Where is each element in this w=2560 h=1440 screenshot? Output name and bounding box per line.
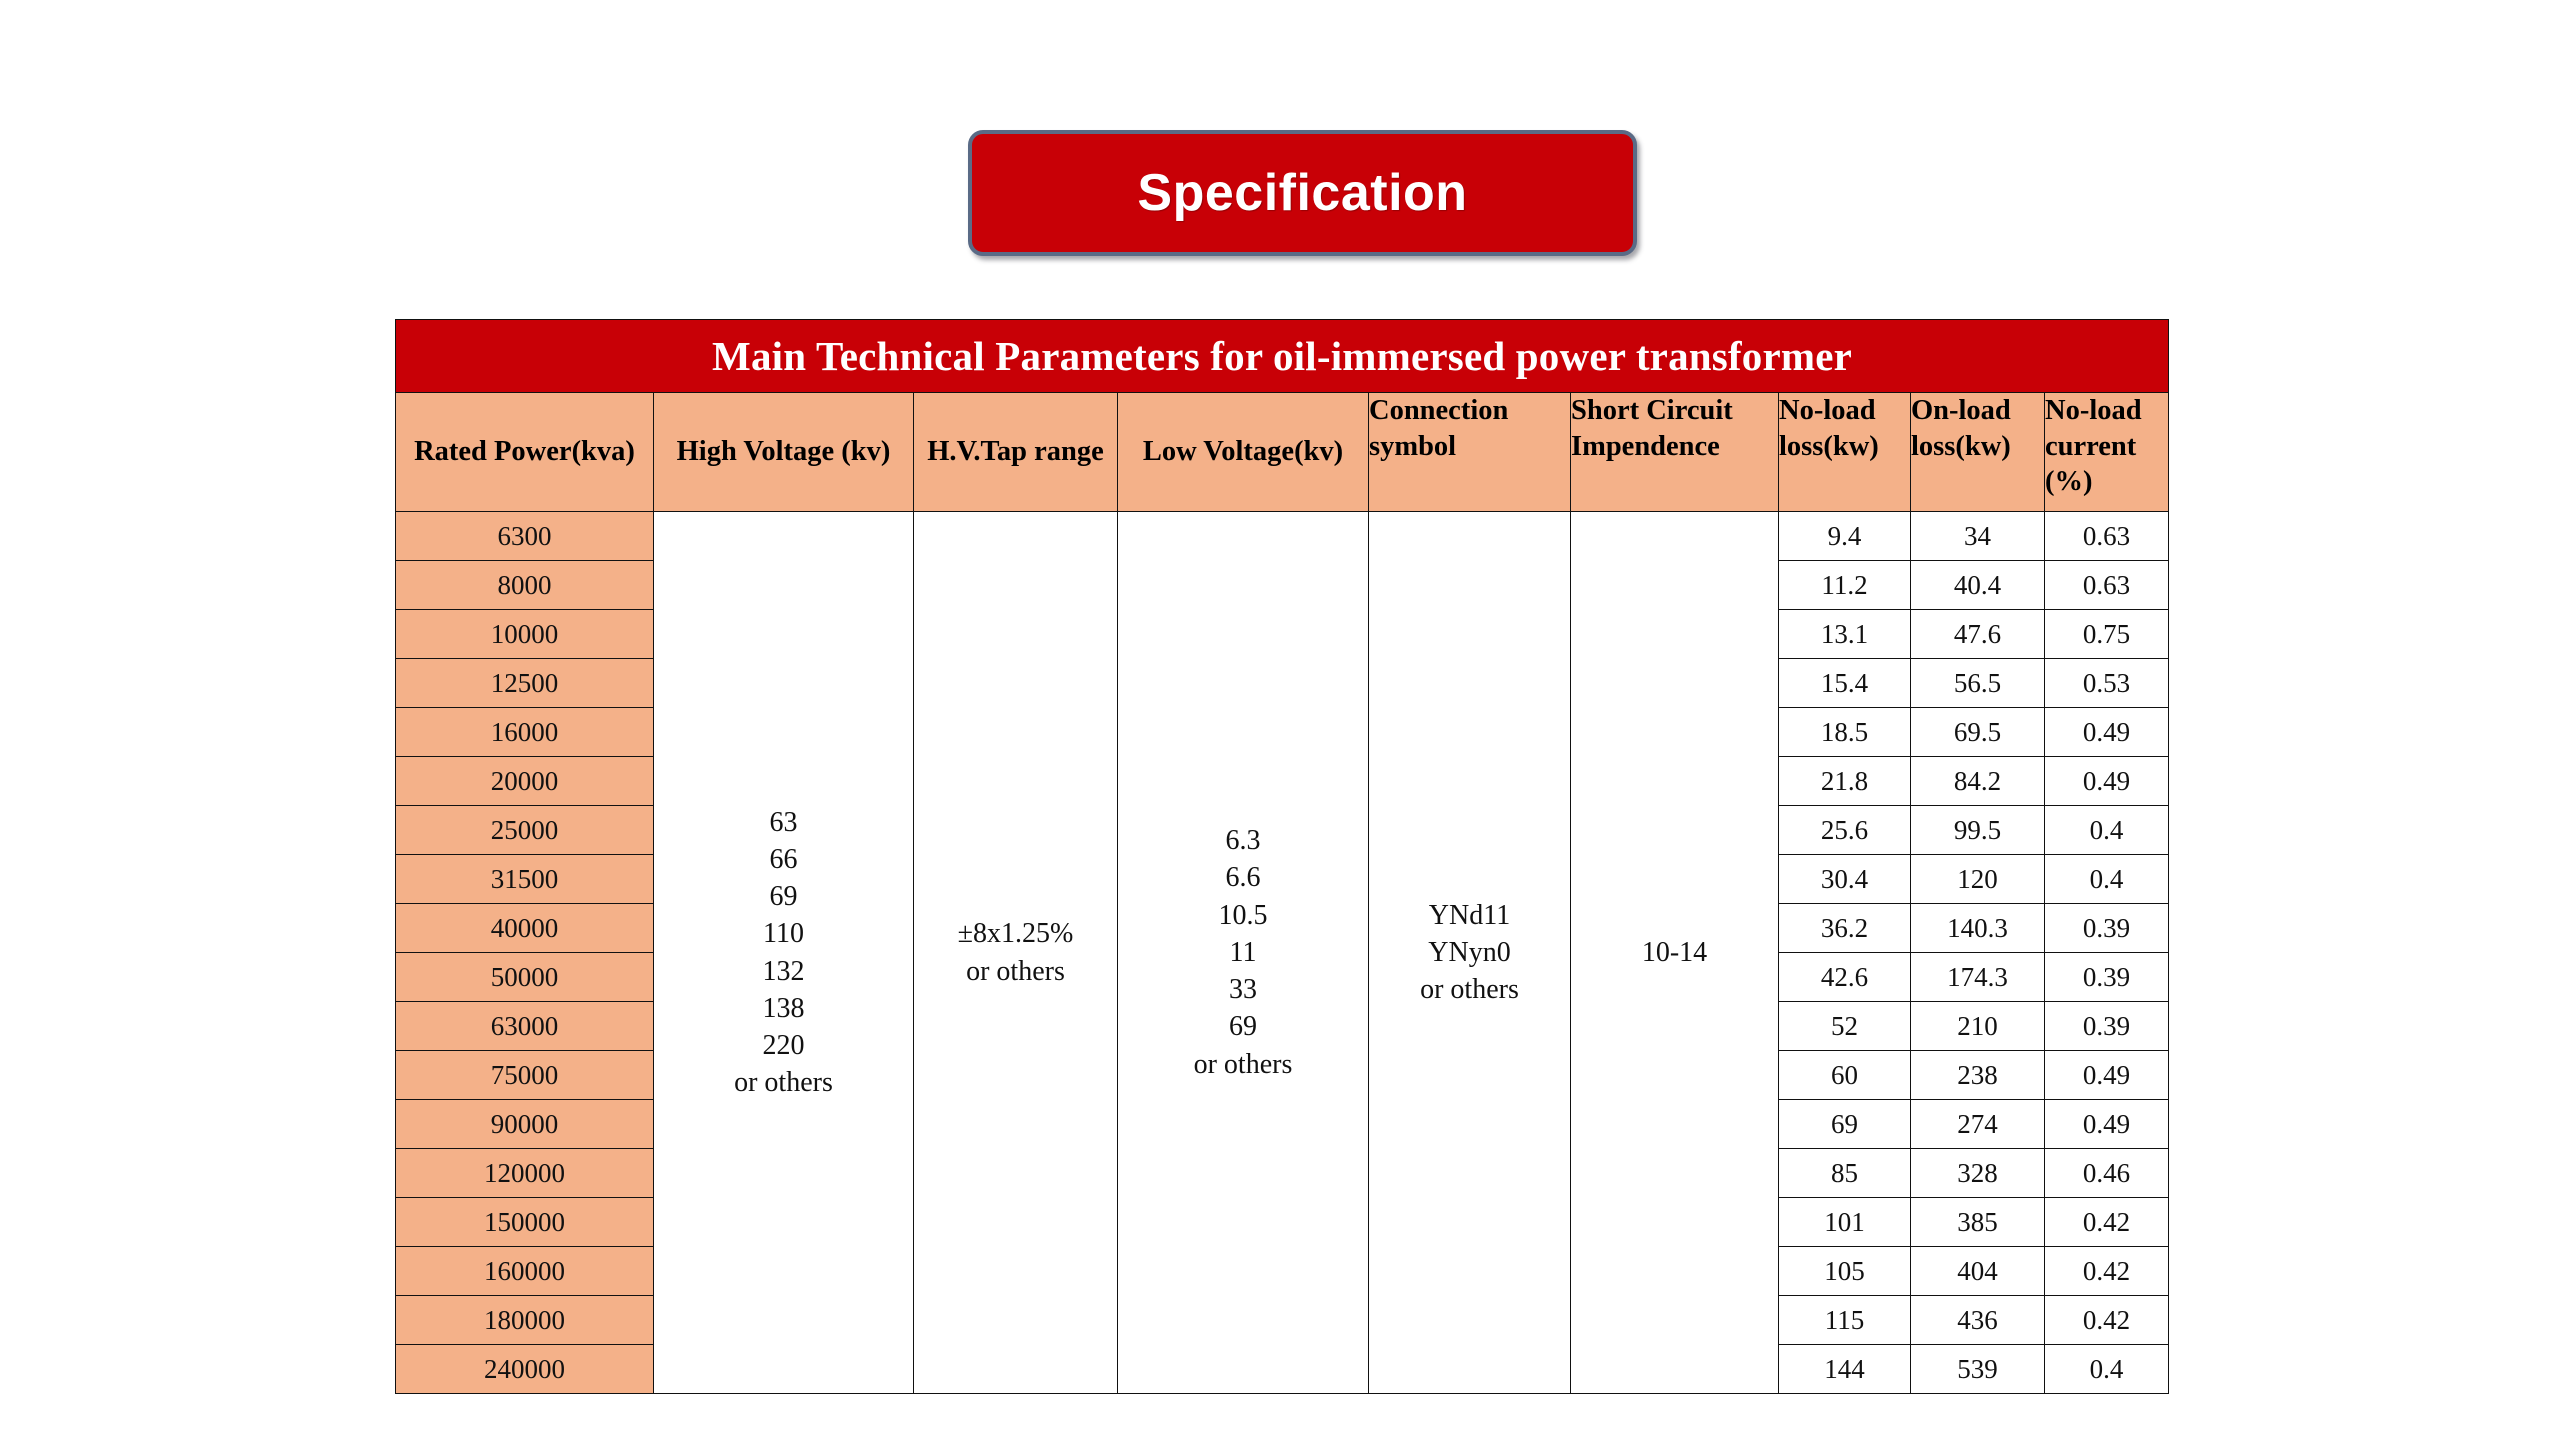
cell-rated-power: 16000 (396, 708, 654, 757)
cell-high-voltage: 63 66 69 110 132 138 220 or others (654, 512, 914, 1394)
cell-on-load-loss: 385 (1911, 1198, 2045, 1247)
cell-no-load-current: 0.63 (2045, 561, 2169, 610)
cell-on-load-loss: 174.3 (1911, 953, 2045, 1002)
cell-rated-power: 90000 (396, 1100, 654, 1149)
cell-on-load-loss: 120 (1911, 855, 2045, 904)
cell-rated-power: 50000 (396, 953, 654, 1002)
cell-on-load-loss: 40.4 (1911, 561, 2045, 610)
cell-no-load-loss: 105 (1779, 1247, 1911, 1296)
cell-rated-power: 240000 (396, 1345, 654, 1394)
cell-on-load-loss: 436 (1911, 1296, 2045, 1345)
cell-on-load-loss: 84.2 (1911, 757, 2045, 806)
column-header-no-load-current: No-load current (%) (2045, 393, 2169, 512)
cell-no-load-loss: 25.6 (1779, 806, 1911, 855)
table-body: Main Technical Parameters for oil-immers… (396, 320, 2169, 1394)
cell-no-load-current: 0.39 (2045, 953, 2169, 1002)
cell-rated-power: 180000 (396, 1296, 654, 1345)
cell-rated-power: 31500 (396, 855, 654, 904)
cell-no-load-loss: 85 (1779, 1149, 1911, 1198)
cell-no-load-current: 0.63 (2045, 512, 2169, 561)
cell-rated-power: 63000 (396, 1002, 654, 1051)
cell-no-load-loss: 36.2 (1779, 904, 1911, 953)
column-header-rated-power: Rated Power(kva) (396, 393, 654, 512)
cell-no-load-loss: 30.4 (1779, 855, 1911, 904)
cell-no-load-loss: 13.1 (1779, 610, 1911, 659)
cell-on-load-loss: 274 (1911, 1100, 2045, 1149)
cell-no-load-loss: 18.5 (1779, 708, 1911, 757)
cell-rated-power: 150000 (396, 1198, 654, 1247)
cell-on-load-loss: 539 (1911, 1345, 2045, 1394)
cell-no-load-current: 0.42 (2045, 1247, 2169, 1296)
column-header-on-load-loss: On-load loss(kw) (1911, 393, 2045, 512)
cell-no-load-current: 0.49 (2045, 1051, 2169, 1100)
table-row: 6300 63 66 69 110 132 138 220 or others … (396, 512, 2169, 561)
cell-no-load-loss: 15.4 (1779, 659, 1911, 708)
cell-rated-power: 75000 (396, 1051, 654, 1100)
cell-on-load-loss: 56.5 (1911, 659, 2045, 708)
cell-no-load-current: 0.39 (2045, 904, 2169, 953)
cell-on-load-loss: 47.6 (1911, 610, 2045, 659)
cell-no-load-loss: 69 (1779, 1100, 1911, 1149)
cell-rated-power: 40000 (396, 904, 654, 953)
cell-on-load-loss: 99.5 (1911, 806, 2045, 855)
cell-no-load-loss: 60 (1779, 1051, 1911, 1100)
cell-rated-power: 160000 (396, 1247, 654, 1296)
cell-no-load-current: 0.39 (2045, 1002, 2169, 1051)
cell-hv-tap-range: ±8x1.25% or others (914, 512, 1118, 1394)
cell-on-load-loss: 210 (1911, 1002, 2045, 1051)
cell-no-load-current: 0.4 (2045, 1345, 2169, 1394)
cell-no-load-loss: 144 (1779, 1345, 1911, 1394)
cell-on-load-loss: 404 (1911, 1247, 2045, 1296)
specification-banner-label: Specification (1137, 163, 1467, 223)
cell-no-load-current: 0.46 (2045, 1149, 2169, 1198)
cell-short-circuit-impendence: 10-14 (1571, 512, 1779, 1394)
cell-no-load-current: 0.4 (2045, 855, 2169, 904)
cell-rated-power: 120000 (396, 1149, 654, 1198)
cell-rated-power: 8000 (396, 561, 654, 610)
table-title: Main Technical Parameters for oil-immers… (396, 320, 2169, 393)
column-header-no-load-loss: No-load loss(kw) (1779, 393, 1911, 512)
cell-rated-power: 10000 (396, 610, 654, 659)
cell-no-load-loss: 11.2 (1779, 561, 1911, 610)
table-title-row: Main Technical Parameters for oil-immers… (396, 320, 2169, 393)
cell-no-load-loss: 9.4 (1779, 512, 1911, 561)
cell-on-load-loss: 328 (1911, 1149, 2045, 1198)
cell-rated-power: 20000 (396, 757, 654, 806)
cell-no-load-loss: 52 (1779, 1002, 1911, 1051)
cell-no-load-current: 0.49 (2045, 708, 2169, 757)
cell-rated-power: 25000 (396, 806, 654, 855)
cell-rated-power: 12500 (396, 659, 654, 708)
cell-no-load-loss: 101 (1779, 1198, 1911, 1247)
cell-on-load-loss: 140.3 (1911, 904, 2045, 953)
cell-no-load-loss: 115 (1779, 1296, 1911, 1345)
main-technical-parameters-table: Main Technical Parameters for oil-immers… (395, 319, 2169, 1394)
cell-on-load-loss: 34 (1911, 512, 2045, 561)
cell-no-load-current: 0.75 (2045, 610, 2169, 659)
specification-table-container: Main Technical Parameters for oil-immers… (395, 319, 2168, 1304)
column-header-connection-symbol: Connection symbol (1369, 393, 1571, 512)
cell-on-load-loss: 69.5 (1911, 708, 2045, 757)
specification-banner: Specification (968, 130, 1637, 256)
cell-no-load-current: 0.53 (2045, 659, 2169, 708)
column-header-hv-tap-range: H.V.Tap range (914, 393, 1118, 512)
cell-no-load-current: 0.42 (2045, 1296, 2169, 1345)
column-header-short-circuit-impendence: Short Circuit Impendence (1571, 393, 1779, 512)
cell-no-load-current: 0.49 (2045, 1100, 2169, 1149)
cell-on-load-loss: 238 (1911, 1051, 2045, 1100)
cell-connection-symbol: YNd11 YNyn0 or others (1369, 512, 1571, 1394)
cell-no-load-loss: 42.6 (1779, 953, 1911, 1002)
cell-no-load-current: 0.4 (2045, 806, 2169, 855)
cell-no-load-loss: 21.8 (1779, 757, 1911, 806)
table-header-row: Rated Power(kva) High Voltage (kv) H.V.T… (396, 393, 2169, 512)
column-header-low-voltage: Low Voltage(kv) (1118, 393, 1369, 512)
column-header-high-voltage: High Voltage (kv) (654, 393, 914, 512)
cell-no-load-current: 0.42 (2045, 1198, 2169, 1247)
cell-rated-power: 6300 (396, 512, 654, 561)
cell-no-load-current: 0.49 (2045, 757, 2169, 806)
cell-low-voltage: 6.3 6.6 10.5 11 33 69 or others (1118, 512, 1369, 1394)
